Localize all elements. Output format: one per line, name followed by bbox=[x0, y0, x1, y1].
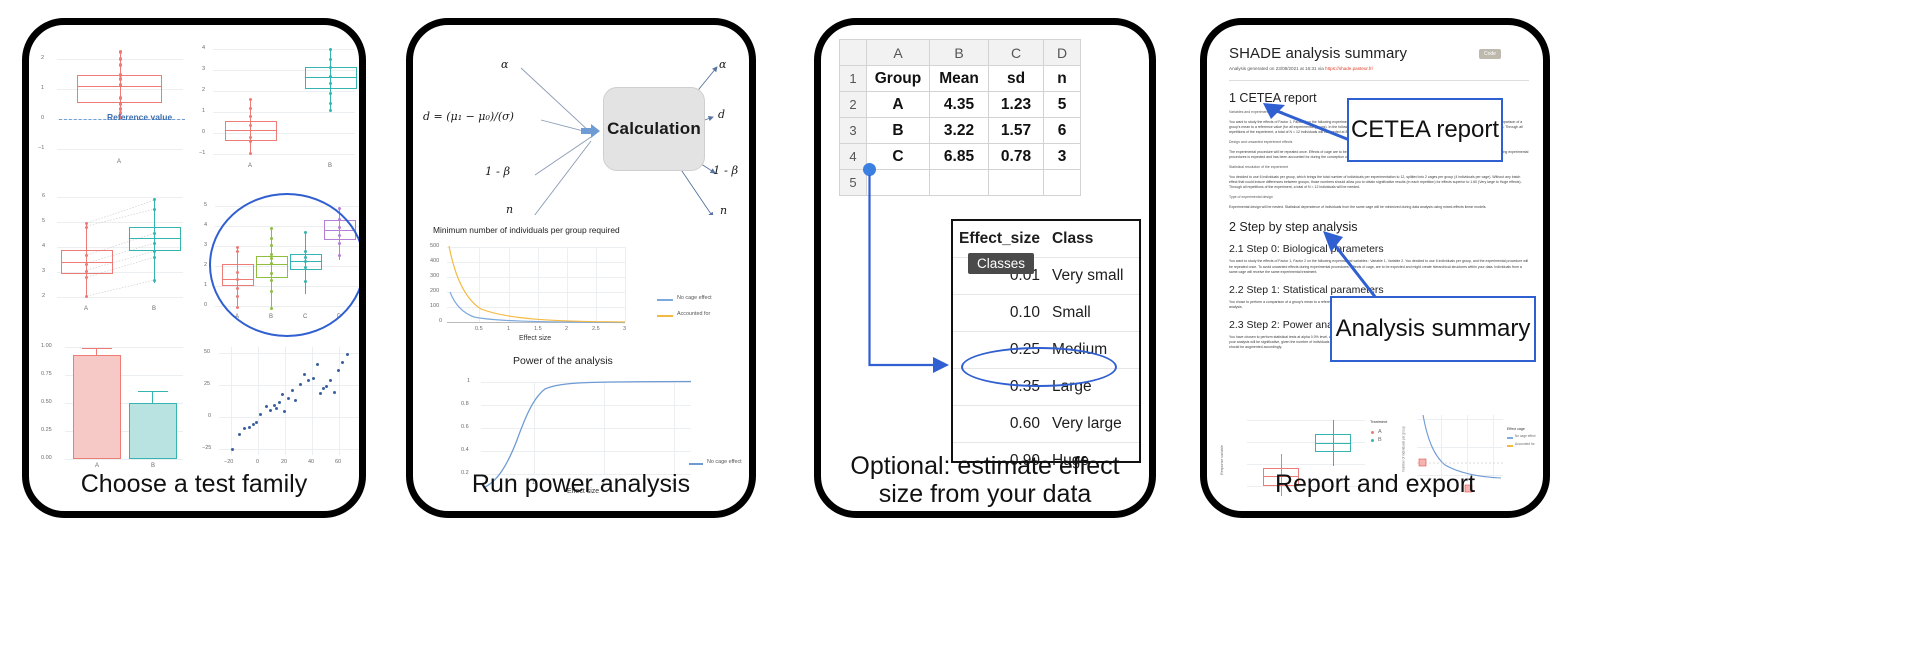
legend-label-power-no-cage: No cage effect bbox=[707, 459, 742, 465]
min-individuals-chart-title: Minimum number of individuals per group … bbox=[433, 225, 620, 235]
effect-size-class-4: Very large bbox=[1046, 406, 1139, 443]
chart-min-individuals: 500 400 300 200 100 0 0.5 1 1.5 2 2.5 3 … bbox=[419, 237, 749, 342]
input-n-label: n bbox=[506, 203, 513, 216]
chart-two-sample-boxplot: 4 3 2 1 0 −1 bbox=[195, 37, 360, 182]
effect-size-class-1: Small bbox=[1046, 295, 1139, 332]
panel-run-power-analysis: α d = (μ₁ − μ₀)/(σ) 1 - β n Calculation … bbox=[406, 18, 756, 518]
table-row[interactable]: 0.60 Very large bbox=[953, 406, 1139, 443]
callout-cetea-report: CETEA report bbox=[1347, 98, 1503, 162]
reference-value-label: Reference value bbox=[107, 112, 172, 122]
chart-paired-boxplot: 6 5 4 3 2 bbox=[35, 185, 185, 325]
output-alpha-label: α bbox=[719, 58, 726, 71]
output-d-label: d bbox=[718, 108, 725, 121]
panel-estimate-effect-size: A B C D 1 Group Mean sd n 2 A 4.35 1.23 … bbox=[814, 18, 1156, 518]
callout-cetea-label: CETEA report bbox=[1351, 116, 1499, 144]
calculation-label: Calculation bbox=[607, 119, 701, 139]
calculation-box: Calculation bbox=[603, 87, 705, 171]
highlight-circle-anova bbox=[209, 193, 365, 337]
chart-correlation-scatter: 50 25 0 −25 −20 0 20 40 60 bbox=[195, 335, 365, 475]
callout-summary-label: Analysis summary bbox=[1336, 315, 1531, 343]
chart-proportion-barplot: 1.00 0.75 0.50 0.25 0.00 A B bbox=[35, 333, 185, 473]
legend-swatch-accounted-for bbox=[657, 315, 673, 317]
caption-step-4: Report and export bbox=[1200, 470, 1550, 498]
callout-analysis-summary: Analysis summary bbox=[1330, 296, 1536, 362]
chart-one-sample-boxplot: 2 1 0 −1 Reference value A bbox=[35, 39, 185, 179]
highlight-ellipse-large-row bbox=[961, 347, 1117, 387]
legend-swatch-power-no-cage bbox=[689, 463, 703, 465]
header-class: Class bbox=[1046, 221, 1139, 258]
caption-step-3-line1: Optional: estimate effect bbox=[814, 452, 1156, 480]
panel-report-and-export: SHADE analysis summary Analysis generate… bbox=[1200, 18, 1550, 518]
legend-label-no-cage-effect: No cage effect bbox=[677, 295, 712, 301]
effect-size-class-0: Very small bbox=[1046, 258, 1139, 295]
classes-tooltip: Classes bbox=[968, 253, 1034, 274]
min-individuals-xlabel: Effect size bbox=[519, 335, 551, 342]
caption-step-3-line2: size from your data bbox=[814, 480, 1156, 508]
input-alpha-label: α bbox=[501, 58, 508, 71]
caption-step-1: Choose a test family bbox=[22, 470, 366, 498]
caption-step-2: Run power analysis bbox=[406, 470, 756, 498]
output-power-label: 1 - β bbox=[713, 163, 738, 177]
legend-label-accounted-for: Accounted for bbox=[677, 311, 710, 317]
output-n-label: n bbox=[720, 204, 727, 217]
steps-overview-figure: 2 1 0 −1 Reference value A bbox=[0, 0, 1906, 660]
caption-step-3: Optional: estimate effect size from your… bbox=[814, 452, 1156, 508]
panel-choose-test-family: 2 1 0 −1 Reference value A bbox=[22, 18, 366, 518]
effect-size-value-4: 0.60 bbox=[953, 406, 1046, 443]
input-effect-size-formula: d = (μ₁ − μ₀)/(σ) bbox=[423, 110, 514, 123]
power-chart-title: Power of the analysis bbox=[513, 355, 613, 367]
effect-size-value-1: 0.10 bbox=[953, 295, 1046, 332]
input-power-label: 1 - β bbox=[485, 164, 510, 178]
table-row[interactable]: 0.10 Small bbox=[953, 295, 1139, 332]
legend-swatch-no-cage-effect bbox=[657, 299, 673, 301]
